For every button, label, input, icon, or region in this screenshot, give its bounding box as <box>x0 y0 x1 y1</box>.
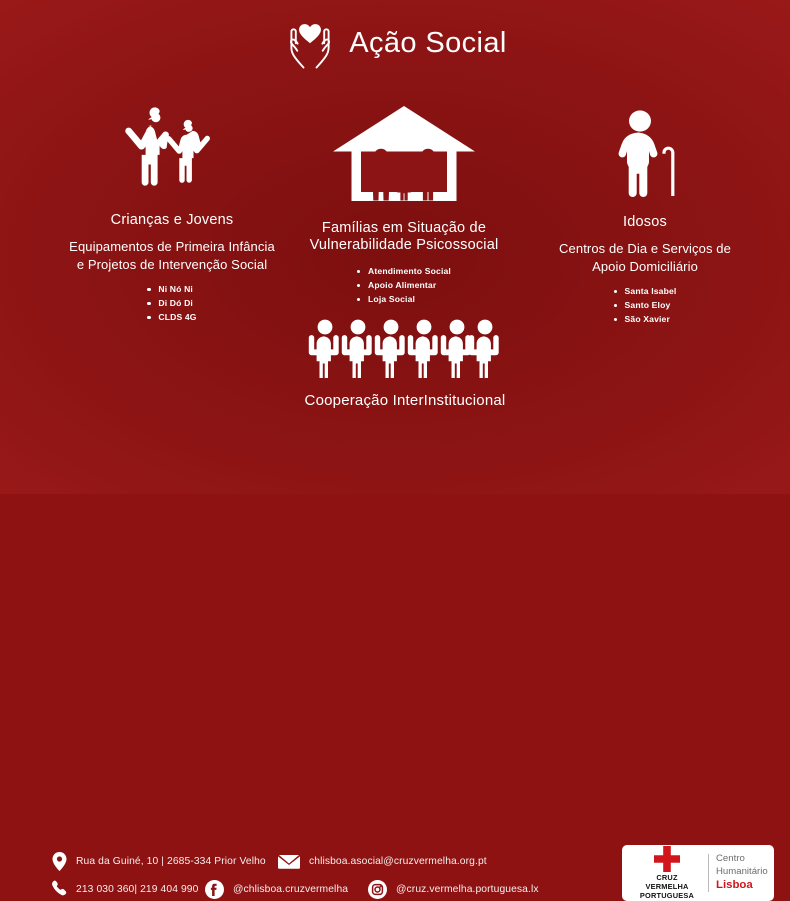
elderly-icon-wrap <box>520 110 770 198</box>
section-elderly: Idosos Centros de Dia e Serviços de Apoi… <box>520 110 770 327</box>
people-group-raised-arms-icon <box>307 318 503 380</box>
instagram-icon <box>368 880 387 899</box>
logo-right: Centro Humanitário Lisboa <box>716 853 768 892</box>
children-jumping-icon <box>120 104 224 196</box>
logo-divider <box>708 854 709 892</box>
phone-icon <box>52 880 67 899</box>
list-item: Loja Social <box>357 293 451 307</box>
phone-text: 213 030 360| 219 404 990 <box>76 884 198 895</box>
list-item: Ni Nó Ni <box>147 283 196 297</box>
facebook-text: @chlisboa.cruzvermelha <box>233 884 348 895</box>
cooperation-icon-wrap <box>245 318 565 380</box>
logo-centro-text: Centro <box>716 853 768 865</box>
section-cooperation: Cooperação InterInstitucional <box>245 318 565 410</box>
children-bullet-list: Ni Nó Ni Di Dó Di CLDS 4G <box>147 283 196 325</box>
list-item: Atendimento Social <box>357 265 451 279</box>
contact-facebook: @chlisboa.cruzvermelha <box>205 880 348 899</box>
instagram-text: @cruz.vermelha.portuguesa.lx <box>396 884 539 895</box>
elderly-subtitle-line2: Apoio Domiciliário <box>520 258 770 275</box>
list-item: CLDS 4G <box>147 311 196 325</box>
section-families: Famílias em Situação de Vulnerabilidade … <box>296 104 512 307</box>
logo-name: CRUZ VERMELHA PORTUGUESA <box>640 873 694 900</box>
elderly-subtitle-line1: Centros de Dia e Serviços de <box>520 240 770 257</box>
list-item: Santo Eloy <box>614 299 677 313</box>
house-family-icon <box>331 104 477 204</box>
poster-footer: Rua da Guiné, 10 | 2685-334 Prior Velho … <box>0 422 790 494</box>
section-children: Crianças e Jovens Equipamentos de Primei… <box>22 104 322 325</box>
location-pin-icon <box>52 852 67 871</box>
logo-name-line2: VERMELHA <box>640 882 694 891</box>
elderly-bullet-list: Santa Isabel Santo Eloy São Xavier <box>614 285 677 327</box>
facebook-icon <box>205 880 224 899</box>
email-text: chlisboa.asocial@cruzvermelha.org.pt <box>309 856 487 867</box>
families-icon-wrap <box>296 104 512 204</box>
page-title: Ação Social <box>349 29 507 58</box>
red-cross-icon <box>654 846 680 872</box>
children-icon-wrap <box>22 104 322 196</box>
list-item: São Xavier <box>614 313 677 327</box>
families-title: Famílias em Situação de Vulnerabilidade … <box>296 220 512 255</box>
logo-lisboa-text: Lisboa <box>716 878 768 893</box>
children-subtitle: Equipamentos de Primeira Infância e Proj… <box>22 238 322 272</box>
logo-name-line1: CRUZ <box>640 873 694 882</box>
logo-name-line3: PORTUGUESA <box>640 891 694 900</box>
contact-email: chlisboa.asocial@cruzvermelha.org.pt <box>278 852 487 871</box>
cruz-vermelha-logo: CRUZ VERMELHA PORTUGUESA Centro Humanitá… <box>622 845 774 901</box>
children-title: Crianças e Jovens <box>22 212 322 229</box>
children-subtitle-line1: Equipamentos de Primeira Infância <box>22 238 322 255</box>
children-subtitle-line2: e Projetos de Intervenção Social <box>22 256 322 273</box>
address-text: Rua da Guiné, 10 | 2685-334 Prior Velho <box>76 856 266 867</box>
elderly-person-cane-icon <box>602 110 688 198</box>
envelope-icon <box>278 852 300 871</box>
list-item: Apoio Alimentar <box>357 279 451 293</box>
elderly-title: Idosos <box>520 214 770 231</box>
acao-social-infographic: Ação Social Crianças e Jovens Equipament… <box>0 0 790 494</box>
logo-left: CRUZ VERMELHA PORTUGUESA <box>628 846 706 900</box>
contact-phone: 213 030 360| 219 404 990 <box>52 880 198 899</box>
hands-heart-icon <box>283 16 337 72</box>
contact-instagram: @cruz.vermelha.portuguesa.lx <box>368 880 539 899</box>
cooperation-title: Cooperação InterInstitucional <box>245 392 565 410</box>
logo-humanitario-text: Humanitário <box>716 866 768 878</box>
elderly-subtitle: Centros de Dia e Serviços de Apoio Domic… <box>520 240 770 274</box>
poster-header: Ação Social <box>0 14 790 72</box>
list-item: Santa Isabel <box>614 285 677 299</box>
families-bullet-list: Atendimento Social Apoio Alimentar Loja … <box>357 265 451 307</box>
contact-address: Rua da Guiné, 10 | 2685-334 Prior Velho <box>52 852 266 871</box>
families-title-line2: Vulnerabilidade Psicossocial <box>296 237 512 254</box>
list-item: Di Dó Di <box>147 297 196 311</box>
families-title-line1: Famílias em Situação de <box>296 220 512 237</box>
